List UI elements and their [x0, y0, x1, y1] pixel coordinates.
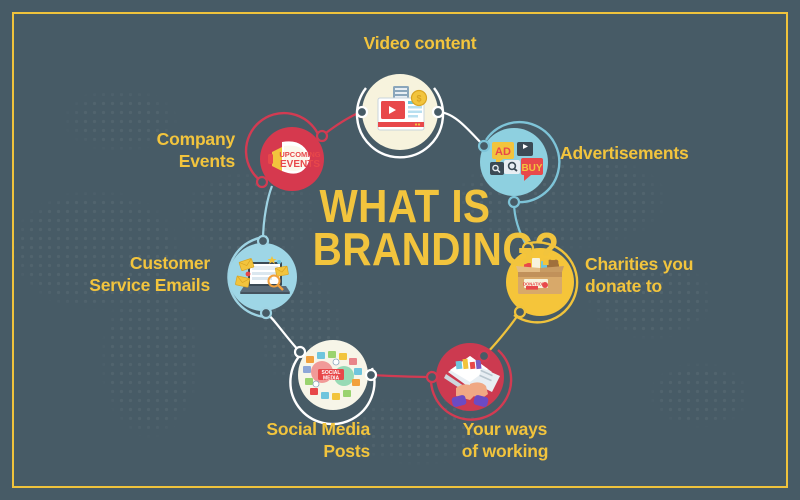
infographic-canvas: $ AD BUY	[0, 0, 800, 500]
svg-text:BUY: BUY	[521, 163, 542, 174]
connector-email-to-events	[263, 186, 272, 241]
connector-dot-charities-bottom	[515, 307, 525, 317]
connector-dot-ads-bottom	[509, 197, 519, 207]
node-ways-of-working[interactable]	[436, 343, 504, 411]
svg-text:EVENTS: EVENTS	[280, 159, 320, 170]
svg-text:MEDIA: MEDIA	[323, 376, 340, 382]
label-ways-of-working: Your ways of working	[430, 418, 580, 462]
label-customer-service-emails: Customer Service Emails	[55, 252, 210, 296]
connector-dot-events-right	[317, 131, 327, 141]
connector-video-to-ads	[438, 112, 484, 146]
connector-social-to-email	[266, 313, 300, 352]
label-advertisements: Advertisements	[560, 142, 760, 164]
label-charities: Charities you donate to	[585, 253, 735, 297]
svg-text:AD: AD	[495, 146, 511, 158]
node-customer-service-emails[interactable]	[229, 243, 297, 311]
connector-dot-social-left	[295, 347, 305, 357]
label-company-events: Company Events	[110, 128, 235, 172]
connector-dot-social-right	[366, 370, 376, 380]
connector-dot-work-left	[427, 372, 437, 382]
svg-text:$: $	[416, 94, 421, 104]
node-company-events[interactable]: UPCOMING EVENTS	[260, 127, 324, 191]
connector-dot-work-right	[479, 351, 489, 361]
connector-dot-email-top	[258, 236, 268, 246]
connector-dot-email-bottom	[261, 308, 271, 318]
node-video-content[interactable]: $	[362, 74, 438, 150]
label-social-media: Social Media Posts	[215, 418, 370, 462]
label-video-content: Video content	[330, 32, 510, 54]
connector-work-to-social	[371, 375, 432, 377]
connector-dot-ads-top	[479, 141, 489, 151]
page-title: WHAT IS BRANDING?	[313, 185, 498, 271]
svg-text:UPCOMING: UPCOMING	[279, 150, 320, 159]
node-social-media[interactable]: SOCIAL MEDIA	[298, 340, 368, 410]
svg-text:DONATION: DONATION	[523, 282, 545, 287]
title-line-2: BRANDING?	[313, 228, 498, 271]
connector-dot-video-left	[357, 107, 367, 117]
connector-dot-events-left	[257, 177, 267, 187]
connector-dot-video-right	[433, 107, 443, 117]
